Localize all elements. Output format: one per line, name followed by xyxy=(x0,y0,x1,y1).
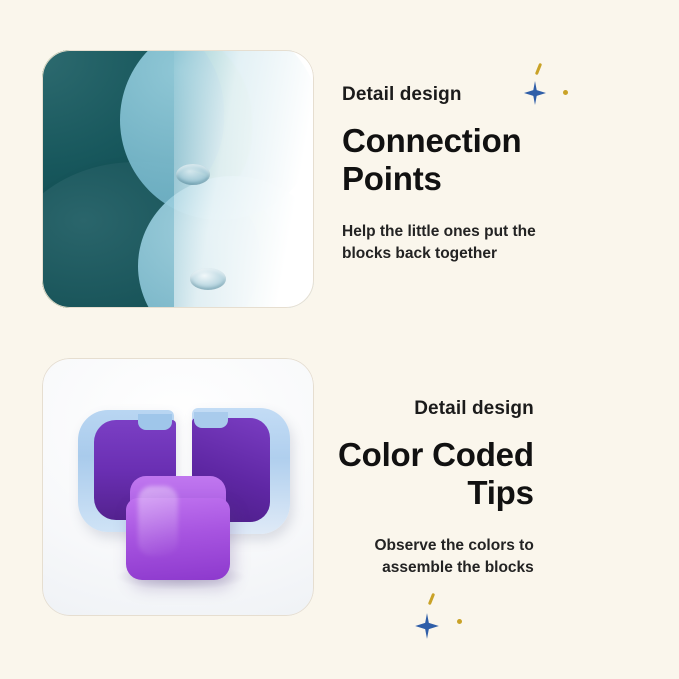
sparkle-icon-bottom xyxy=(413,612,441,640)
headline-top-line2: Points xyxy=(342,160,536,198)
left-block-notch xyxy=(138,414,172,430)
body-copy-bottom-line1: Observe the colors to xyxy=(338,535,534,557)
headline-bottom: Color Coded Tips xyxy=(338,436,534,513)
body-copy-top-line2: blocks back together xyxy=(342,243,536,265)
headline-bottom-line2: Tips xyxy=(338,474,534,512)
dot-decoration-top xyxy=(563,90,568,95)
color-coded-tips-photo xyxy=(42,358,314,616)
connection-nub-upper xyxy=(176,164,210,185)
color-coded-tips-text: Detail design Color Coded Tips Observe t… xyxy=(338,358,534,579)
dot-decoration-bottom xyxy=(457,619,462,624)
tick-decoration-top xyxy=(535,63,542,75)
headline-top: Connection Points xyxy=(342,122,536,199)
body-copy-bottom-line2: assemble the blocks xyxy=(338,557,534,579)
section-connection-points: Detail design Connection Points Help the… xyxy=(42,50,536,308)
sparkle-icon-top xyxy=(522,80,548,106)
eyebrow-label-bottom: Detail design xyxy=(338,398,534,420)
connection-points-photo xyxy=(42,50,314,308)
headline-top-line1: Connection xyxy=(342,122,536,160)
connection-nub-lower xyxy=(190,268,226,290)
section-color-coded-tips: Detail design Color Coded Tips Observe t… xyxy=(42,358,534,616)
right-block-notch xyxy=(194,412,228,428)
page-root: Detail design Connection Points Help the… xyxy=(0,0,679,679)
body-copy-bottom: Observe the colors to assemble the block… xyxy=(338,535,534,579)
connection-points-text: Detail design Connection Points Help the… xyxy=(342,50,536,265)
purple-cube-highlight xyxy=(138,486,178,556)
eyebrow-label-top: Detail design xyxy=(342,84,536,106)
body-copy-top-line1: Help the little ones put the xyxy=(342,221,536,243)
body-copy-top: Help the little ones put the blocks back… xyxy=(342,221,536,265)
headline-bottom-line1: Color Coded xyxy=(338,436,534,474)
